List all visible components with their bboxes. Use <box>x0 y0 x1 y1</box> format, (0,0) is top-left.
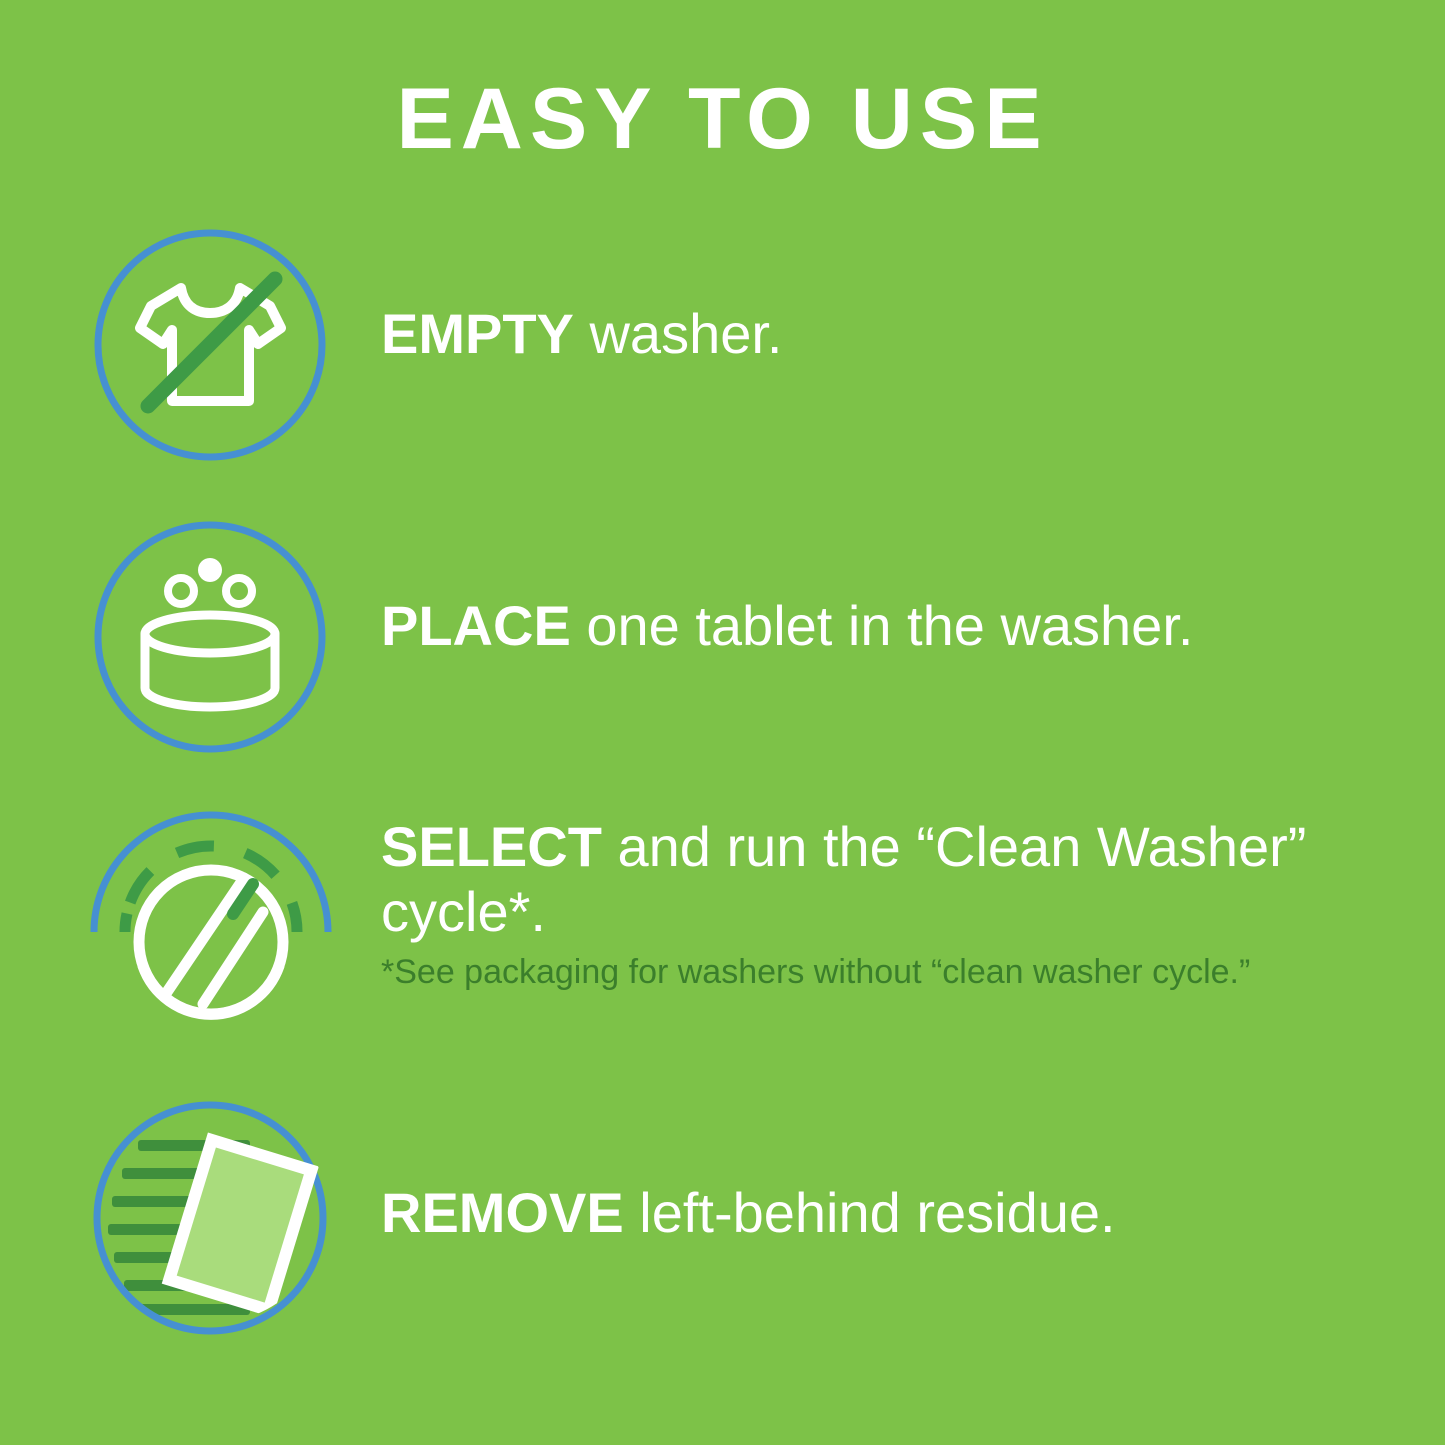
step-text-empty: EMPTY washer. <box>381 301 1391 366</box>
step-line: PLACE one tablet in the washer. <box>381 593 1391 658</box>
step-rest: left-behind residue. <box>624 1181 1116 1244</box>
step-lead: REMOVE <box>381 1181 624 1244</box>
step-text-select: SELECT and run the “Clean Washer” cycle*… <box>381 814 1391 993</box>
bubble-ring-right-icon <box>226 578 252 604</box>
step-rest: washer. <box>574 302 783 365</box>
page-title: EASY TO USE <box>0 76 1445 162</box>
washer-dial-icon <box>87 808 335 1056</box>
step-empty: EMPTY washer. <box>0 226 1445 466</box>
step-remove: REMOVE left-behind residue. <box>0 1098 1445 1338</box>
bubble-filled-icon <box>198 558 222 582</box>
step-place: PLACE one tablet in the washer. <box>0 518 1445 758</box>
step-lead: PLACE <box>381 594 571 657</box>
step-lead: EMPTY <box>381 302 574 365</box>
step-text-place: PLACE one tablet in the washer. <box>381 593 1391 658</box>
step-select: SELECT and run the “Clean Washer” cycle*… <box>0 808 1445 1058</box>
step-footnote: *See packaging for washers without “clea… <box>381 952 1261 993</box>
step-line: REMOVE left-behind residue. <box>381 1180 1391 1245</box>
tablet-with-bubbles-icon <box>91 518 329 756</box>
easy-to-use-poster: EASY TO USE EMPTY washer. <box>0 0 1445 1445</box>
wipe-residue-icon <box>90 1098 330 1338</box>
bubble-ring-left-icon <box>168 578 194 604</box>
step-line: SELECT and run the “Clean Washer” cycle*… <box>381 814 1391 944</box>
step-line: EMPTY washer. <box>381 301 1391 366</box>
step-text-remove: REMOVE left-behind residue. <box>381 1180 1391 1245</box>
step-rest: one tablet in the washer. <box>571 594 1194 657</box>
step-lead: SELECT <box>381 815 602 878</box>
no-clothes-icon <box>91 226 329 464</box>
